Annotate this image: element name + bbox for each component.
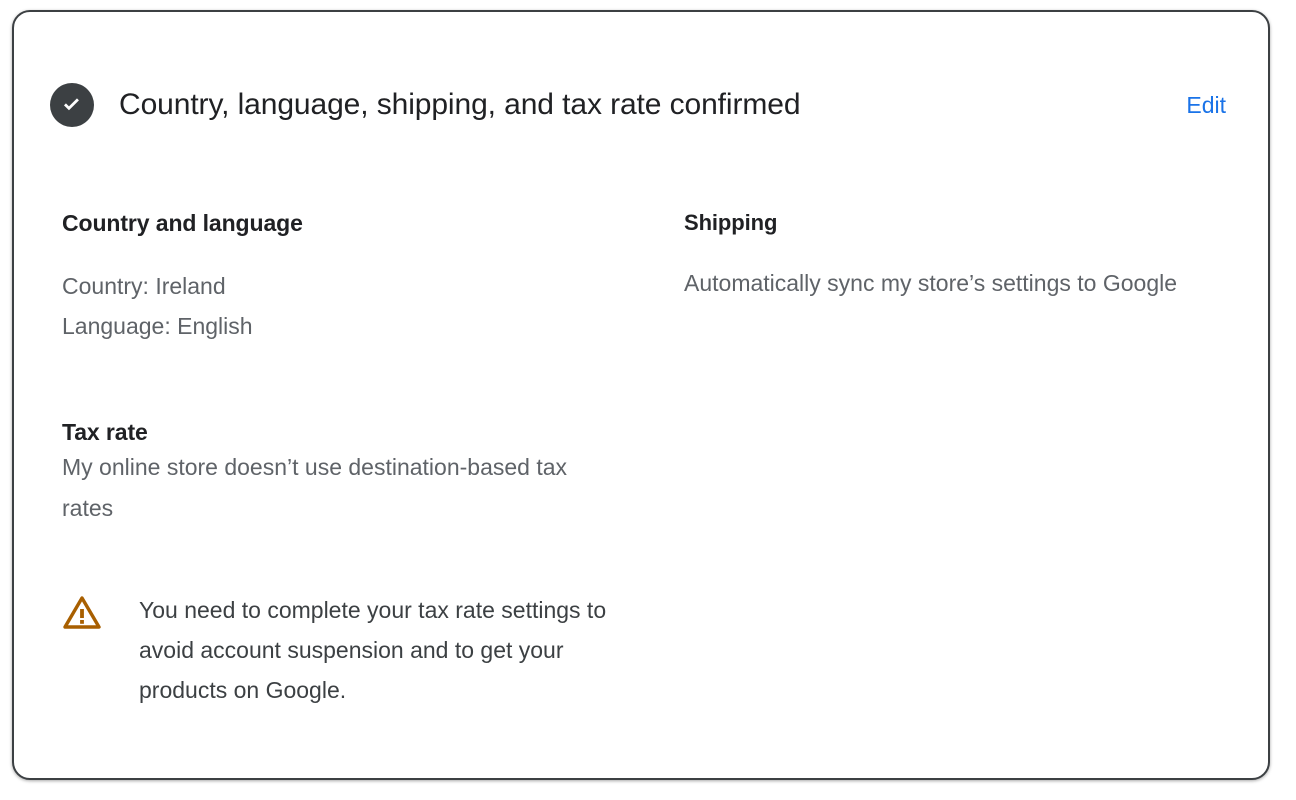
tax-rate-warning: You need to complete your tax rate setti…: [62, 590, 642, 710]
country-language-section: Country and language Country: Ireland La…: [62, 208, 632, 346]
language-value: Language: English: [62, 306, 632, 346]
warning-triangle-icon: [62, 590, 106, 634]
warning-message: You need to complete your tax rate setti…: [139, 590, 642, 710]
shipping-section: Shipping Automatically sync my store’s s…: [684, 208, 1229, 303]
page-title: Country, language, shipping, and tax rat…: [119, 86, 800, 124]
edit-button[interactable]: Edit: [1186, 90, 1236, 120]
check-circle-icon: [50, 83, 94, 127]
spacer: [684, 238, 1229, 263]
shipping-heading: Shipping: [684, 208, 1229, 238]
card-header: Country, language, shipping, and tax rat…: [50, 80, 1236, 130]
country-language-heading: Country and language: [62, 208, 632, 238]
tax-rate-section: Tax rate My online store doesn’t use des…: [62, 417, 622, 529]
shipping-description: Automatically sync my store’s settings t…: [684, 263, 1229, 303]
setup-summary-card: Country, language, shipping, and tax rat…: [12, 10, 1270, 780]
spacer: [62, 238, 632, 266]
country-value: Country: Ireland: [62, 266, 632, 306]
tax-rate-description: My online store doesn’t use destination-…: [62, 447, 622, 529]
tax-rate-heading: Tax rate: [62, 417, 622, 447]
screenshot-stage: Country, language, shipping, and tax rat…: [0, 0, 1296, 800]
